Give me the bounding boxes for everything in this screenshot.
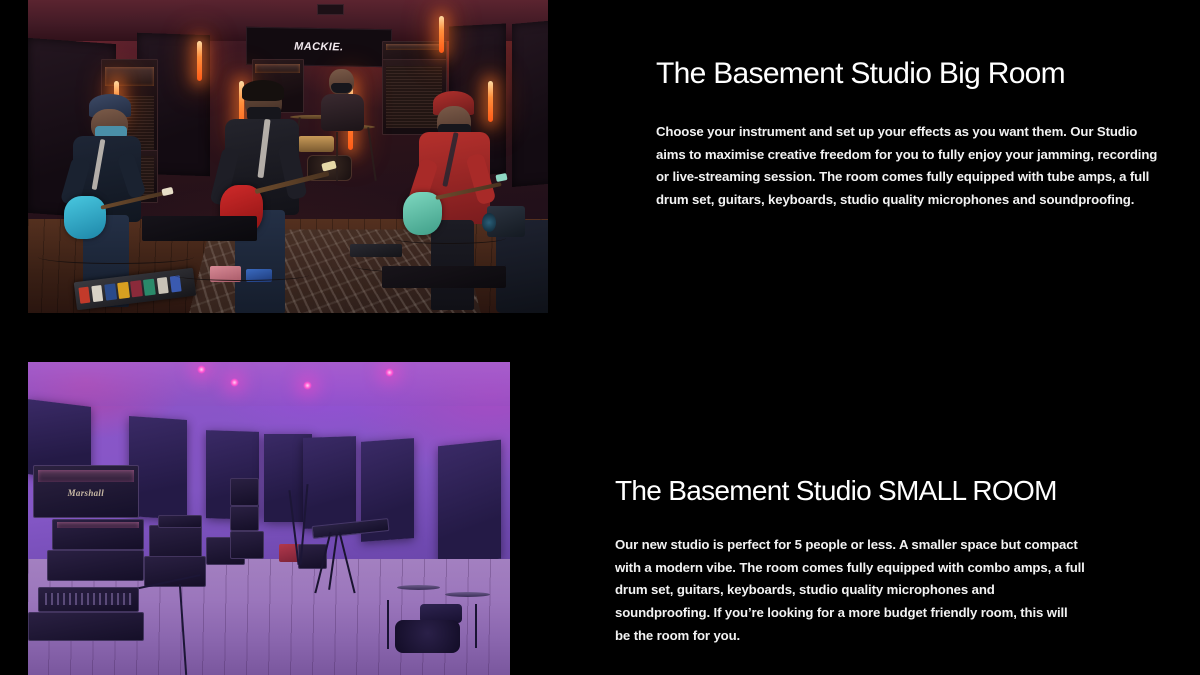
cymbal (445, 592, 490, 597)
exit-sign (317, 4, 344, 15)
ceiling-spotlight (385, 368, 394, 377)
led-tube-light (197, 41, 202, 82)
big-room-title: The Basement Studio Big Room (656, 57, 1176, 90)
marshall-logo-text: Marshall (68, 488, 104, 498)
camera-operator (496, 194, 548, 313)
electric-guitar (64, 196, 106, 239)
acoustic-panel (438, 440, 501, 566)
amp-head (230, 478, 259, 506)
amp-head (158, 515, 201, 528)
page-root: MACKIE. (0, 0, 1200, 675)
amp-cabinet (47, 550, 143, 581)
blackstar-floor-banner (382, 266, 507, 288)
blackstar-floor-banner (142, 216, 256, 241)
big-room-description: Choose your instrument and set up your e… (656, 121, 1164, 212)
cymbal (397, 585, 440, 590)
big-room-scene: MACKIE. (28, 0, 548, 313)
console-stand (28, 612, 144, 640)
amp-cabinet (144, 556, 207, 587)
amp-cabinet (230, 531, 264, 559)
small-room-photo[interactable]: Marshall (28, 362, 510, 675)
floor-monitor (350, 244, 402, 257)
ceiling-spotlight (197, 365, 206, 374)
acoustic-panel (512, 20, 548, 187)
small-room-ceiling (28, 362, 510, 406)
ceiling-spotlight (303, 381, 312, 390)
drum-kit (385, 581, 510, 669)
kick-drum (395, 620, 460, 653)
amp-cabinet (230, 506, 259, 531)
mackie-logo-text: MACKIE. (295, 40, 344, 53)
big-room-text-column: The Basement Studio Big Room Choose your… (656, 57, 1176, 212)
small-room-description: Our new studio is perfect for 5 people o… (615, 534, 1085, 648)
acoustic-panel (303, 436, 356, 529)
big-room-photo[interactable]: MACKIE. (28, 0, 548, 313)
small-room-text-column: The Basement Studio SMALL ROOM Our new s… (615, 476, 1095, 647)
led-tube-light (439, 16, 444, 54)
marshall-amp: Marshall (33, 465, 139, 518)
mixing-console (38, 587, 139, 612)
drummer (319, 69, 366, 132)
amp-head (52, 519, 144, 550)
small-room-title: The Basement Studio SMALL ROOM (615, 476, 1095, 507)
small-room-scene: Marshall (28, 362, 510, 675)
